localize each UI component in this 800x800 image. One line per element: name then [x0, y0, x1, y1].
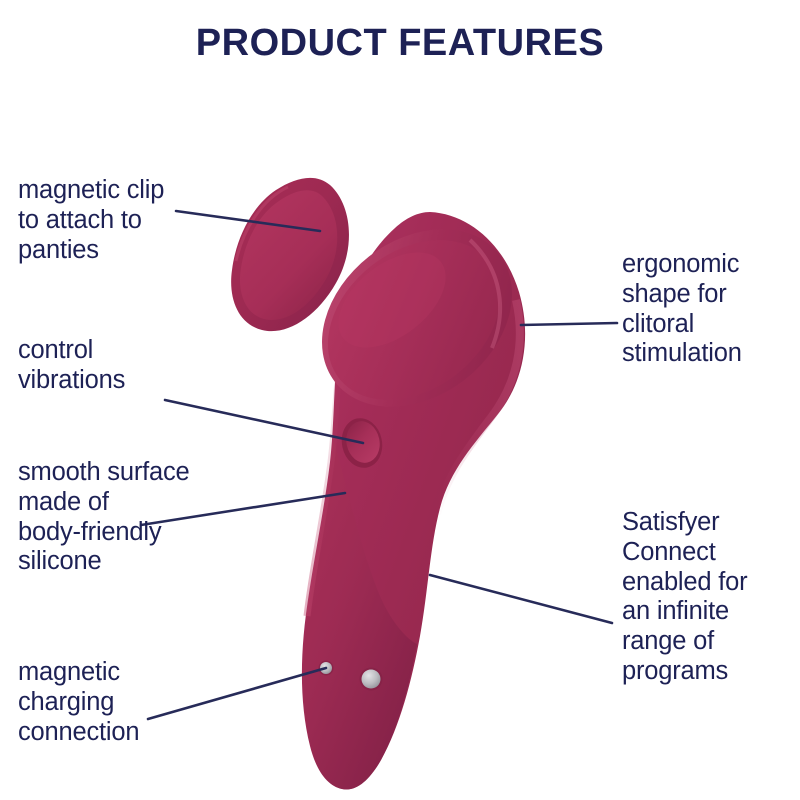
callout-line: charging: [18, 688, 139, 718]
callout-line: an infinite: [622, 597, 747, 627]
callout-control-vibrations: control vibrations: [18, 336, 125, 396]
callout-line: control: [18, 336, 125, 366]
callout-line: made of: [18, 488, 190, 518]
callout-line: enabled for: [622, 568, 747, 598]
callout-line: ergonomic: [622, 250, 742, 280]
product-features-diagram: PRODUCT FEATURES: [0, 0, 800, 800]
callout-line: to attach to: [18, 206, 164, 236]
charging-contact-small: [319, 661, 334, 676]
callout-line: range of: [622, 627, 747, 657]
callout-smooth-surface: smooth surface made of body-friendly sil…: [18, 458, 190, 577]
callout-ergonomic-shape: ergonomic shape for clitoral stimulation: [622, 250, 742, 369]
callout-line: shape for: [622, 280, 742, 310]
callout-magnetic-clip: magnetic clip to attach to panties: [18, 176, 164, 265]
callout-line: smooth surface: [18, 458, 190, 488]
callout-line: connection: [18, 718, 139, 748]
charging-contact-large: [360, 668, 383, 691]
callout-line: Satisfyer: [622, 508, 747, 538]
callout-line: clitoral: [622, 310, 742, 340]
callout-line: programs: [622, 657, 747, 687]
callout-line: silicone: [18, 547, 190, 577]
callout-line: magnetic clip: [18, 176, 164, 206]
callout-line: vibrations: [18, 366, 125, 396]
callout-line: panties: [18, 236, 164, 266]
callout-magnetic-charging: magnetic charging connection: [18, 658, 139, 747]
callout-line: stimulation: [622, 339, 742, 369]
callout-line: magnetic: [18, 658, 139, 688]
callout-line: body-friendly: [18, 518, 190, 548]
callout-line: Connect: [622, 538, 747, 568]
callout-satisfyer-connect: Satisfyer Connect enabled for an infinit…: [622, 508, 747, 687]
